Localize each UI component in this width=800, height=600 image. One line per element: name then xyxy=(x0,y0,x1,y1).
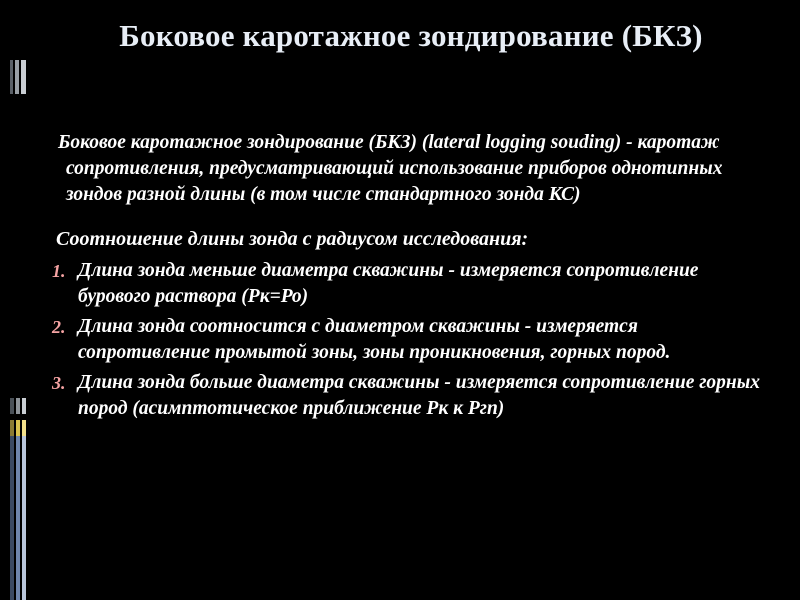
list-item: Длина зонда меньше диаметра скважины - и… xyxy=(44,258,764,310)
list-item: Длина зонда соотносится с диаметром сква… xyxy=(44,314,764,366)
subheading: Соотношение длины зонда с радиусом иссле… xyxy=(44,226,764,252)
slide-title: Боковое каротажное зондирование (БКЗ) xyxy=(46,16,776,56)
rail-segment-gray xyxy=(10,398,26,414)
list-item: Длина зонда больше диаметра скважины - и… xyxy=(44,370,764,422)
numbered-list: Длина зонда меньше диаметра скважины - и… xyxy=(44,258,764,422)
rail-segment-yellow xyxy=(10,420,26,436)
rail-segment-top xyxy=(10,60,26,94)
slide-body: Боковое каротажное зондирование (БКЗ) (l… xyxy=(44,130,764,426)
rail-segment-blue xyxy=(10,436,26,600)
decorative-rail xyxy=(0,0,26,600)
intro-paragraph: Боковое каротажное зондирование (БКЗ) (l… xyxy=(44,130,764,208)
slide: Боковое каротажное зондирование (БКЗ) Бо… xyxy=(0,0,800,600)
